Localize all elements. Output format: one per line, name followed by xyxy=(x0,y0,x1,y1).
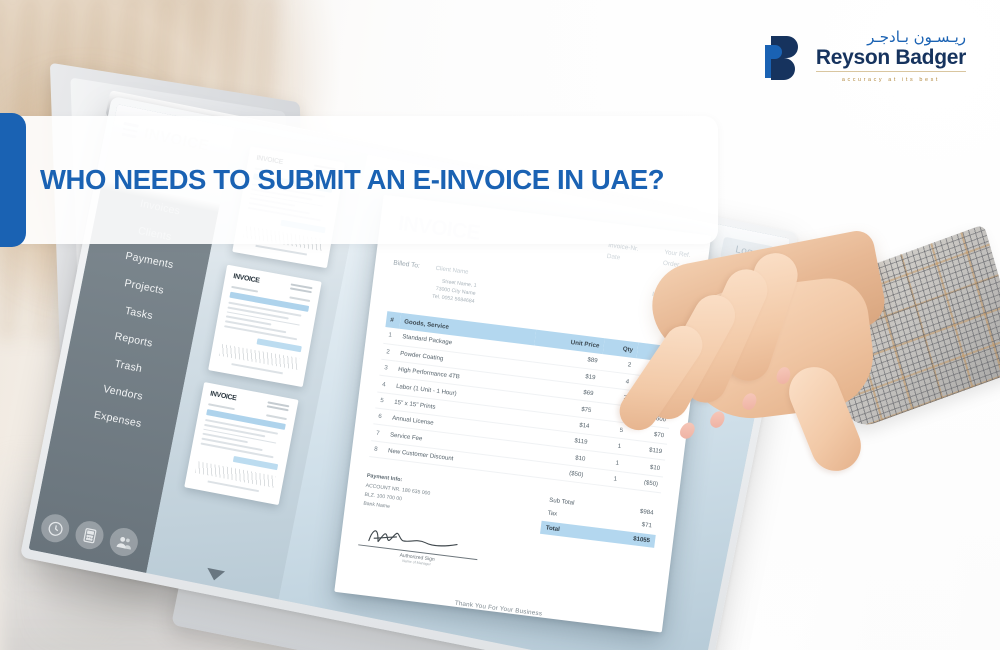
page-title: WHO NEEDS TO SUBMIT AN E-INVOICE IN UAE? xyxy=(18,164,664,196)
logo-tagline-wrap: accuracy at its best xyxy=(816,71,966,83)
billed-to-label: Billed To: xyxy=(389,260,420,299)
thumbnail-logo: INVOICE xyxy=(209,390,237,402)
invoice-thumbnail[interactable]: INVOICE xyxy=(208,264,322,386)
payment-info: Payment Info: ACCOUNT NR. 180 635 000 BL… xyxy=(363,471,487,524)
invoice-thumbnail[interactable]: INVOICE xyxy=(184,382,298,505)
logo-tagline: accuracy at its best xyxy=(816,77,966,83)
thumbnail-meta xyxy=(266,401,289,411)
thumbnail-logo: INVOICE xyxy=(232,273,260,285)
logo-arabic: ريـسـون بـادجـر xyxy=(867,30,966,45)
signature-block: Authorized Sign Name of Manager xyxy=(357,523,480,572)
hand-pointing xyxy=(580,215,1000,545)
summary-label: Tax xyxy=(547,510,557,518)
logo-name: Reyson Badger xyxy=(816,47,966,69)
brand-logo[interactable]: ريـسـون بـادجـر Reyson Badger accuracy a… xyxy=(757,30,966,83)
calculator-icon[interactable] xyxy=(73,519,106,552)
thumbnail-meta xyxy=(290,283,313,292)
sidebar-icon-row xyxy=(39,512,141,559)
rb-monogram-icon xyxy=(757,32,807,82)
headline-panel: WHO NEEDS TO SUBMIT AN E-INVOICE IN UAE? xyxy=(18,116,718,244)
fingernail xyxy=(677,420,697,441)
client-name: Client Name xyxy=(435,266,469,276)
logo-text-block: ريـسـون بـادجـر Reyson Badger accuracy a… xyxy=(816,30,966,83)
summary-label: Sub Total xyxy=(549,497,575,507)
accent-bar xyxy=(0,113,26,247)
clock-icon[interactable] xyxy=(39,512,72,545)
users-icon[interactable] xyxy=(107,525,140,558)
client-address: Street Name, 1 73000 City Name Tel. 0052… xyxy=(432,277,477,306)
summary-total-label: Total xyxy=(545,525,560,534)
chevron-down-icon[interactable] xyxy=(205,568,225,582)
invoice-footer-note: Thank You For Your Business xyxy=(352,587,645,630)
